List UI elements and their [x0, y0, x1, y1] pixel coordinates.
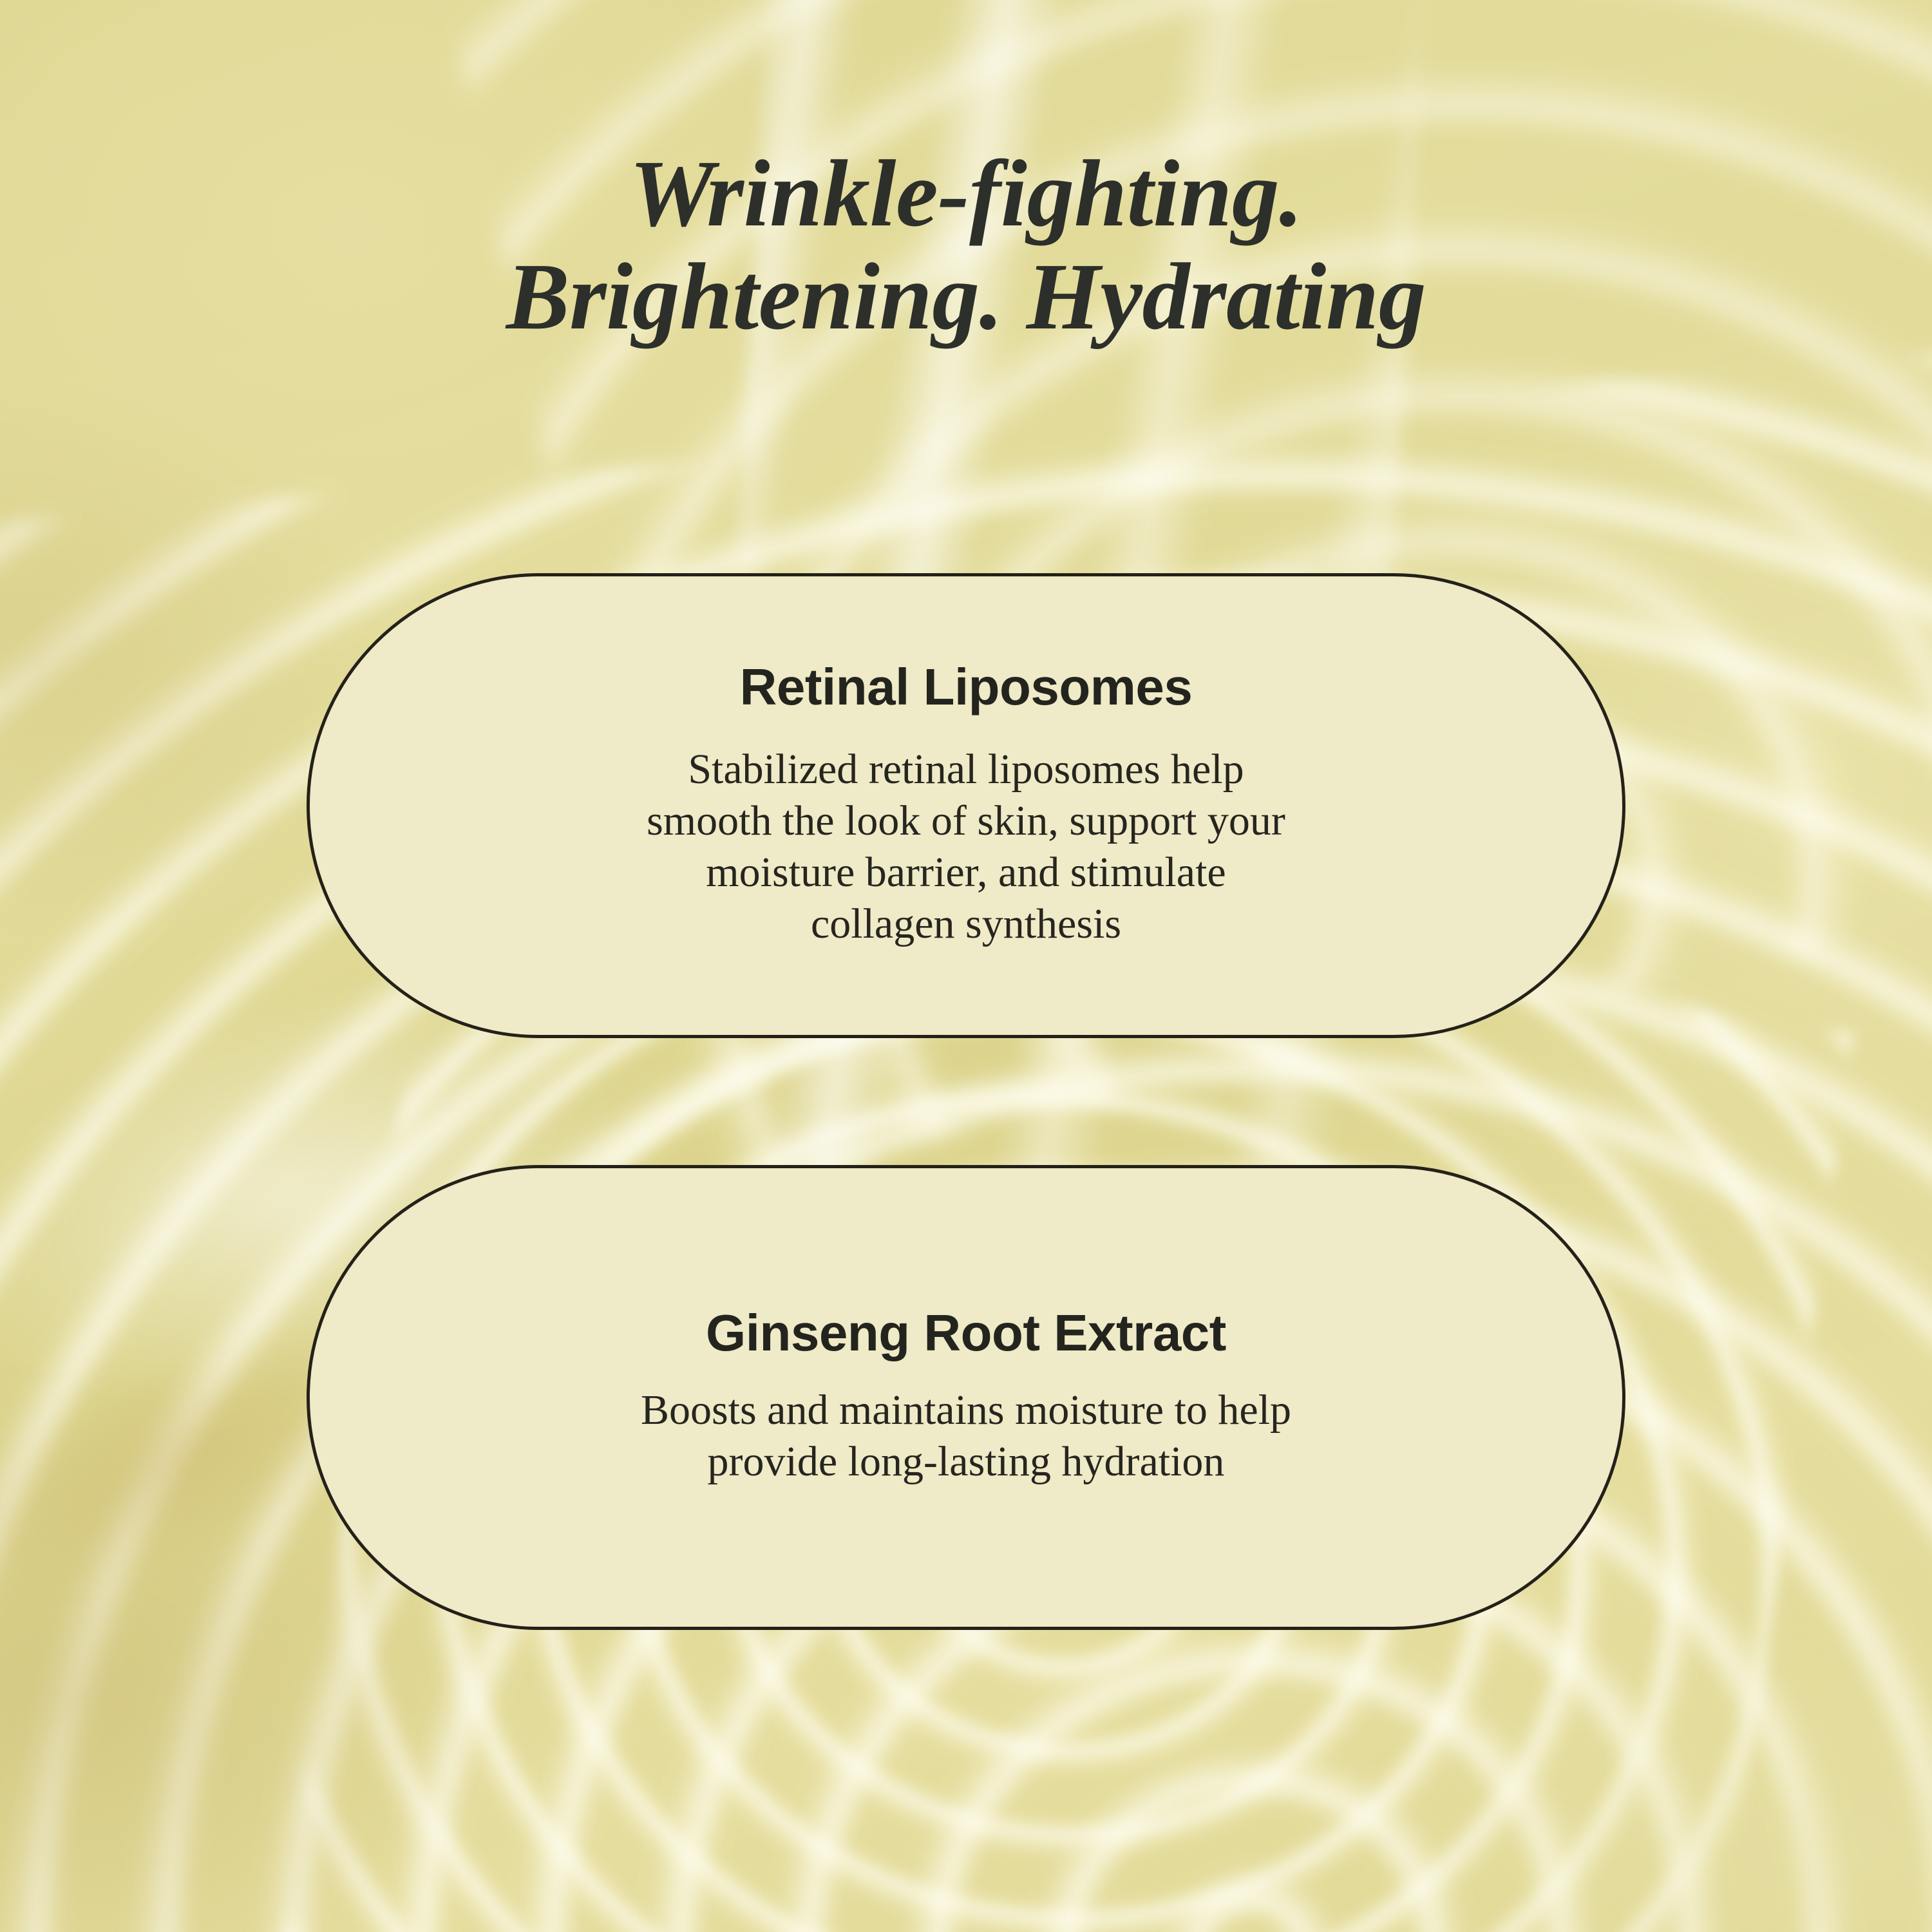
- ingredient-card-retinal-liposomes: Retinal Liposomes Stabilized retinal lip…: [307, 573, 1625, 1038]
- card-title: Retinal Liposomes: [740, 661, 1193, 713]
- card-description-line: collagen synthesis: [647, 898, 1285, 950]
- page-headline: Wrinkle-fighting. Brightening. Hydrating: [0, 143, 1932, 349]
- card-description-line: Boosts and maintains moisture to help: [641, 1385, 1291, 1436]
- card-description-line: provide long-lasting hydration: [641, 1436, 1291, 1488]
- card-description: Stabilized retinal liposomes help smooth…: [647, 744, 1285, 949]
- ingredient-card-ginseng-root-extract: Ginseng Root Extract Boosts and maintain…: [307, 1165, 1625, 1630]
- headline-line-1: Wrinkle-fighting.: [77, 143, 1855, 246]
- card-description: Boosts and maintains moisture to help pr…: [641, 1385, 1291, 1488]
- headline-line-2: Brightening. Hydrating: [77, 246, 1855, 349]
- promo-graphic: Wrinkle-fighting. Brightening. Hydrating…: [0, 0, 1932, 1932]
- card-description-line: Stabilized retinal liposomes help: [647, 744, 1285, 795]
- card-title: Ginseng Root Extract: [706, 1307, 1226, 1359]
- card-description-line: smooth the look of skin, support your: [647, 795, 1285, 847]
- card-description-line: moisture barrier, and stimulate: [647, 847, 1285, 898]
